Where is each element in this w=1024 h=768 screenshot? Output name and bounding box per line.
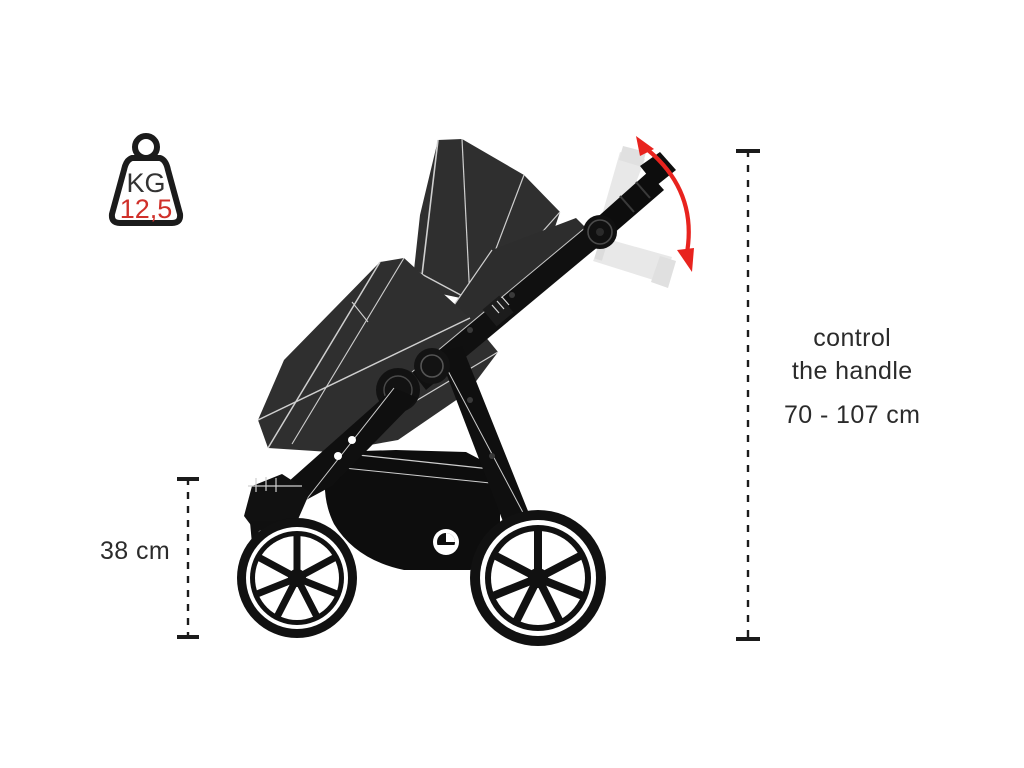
weight-value-label: 12,5 xyxy=(120,194,173,224)
handle-label-line-2: the handle xyxy=(784,355,920,388)
seat-height-label: 38 cm xyxy=(100,537,170,566)
seat-height-dimension-line xyxy=(177,478,199,638)
handle-label-line-3: 70 - 107 cm xyxy=(784,399,920,432)
diagram-canvas: KG 12,5 38 cm control the handle 70 - 10… xyxy=(0,0,1024,768)
brand-logo-icon xyxy=(433,529,459,555)
rear-wheel xyxy=(470,510,606,646)
weight-icon: KG 12,5 xyxy=(112,136,180,224)
handle-pivot-joint xyxy=(583,215,617,249)
handle-height-dimension-line xyxy=(736,150,760,640)
shopping-basket xyxy=(325,450,500,570)
weight-badge: KG 12,5 xyxy=(96,130,196,230)
handle-label-line-1: control xyxy=(784,322,920,355)
handle-height-label: control the handle 70 - 107 cm xyxy=(784,322,920,432)
front-wheel xyxy=(237,518,357,638)
